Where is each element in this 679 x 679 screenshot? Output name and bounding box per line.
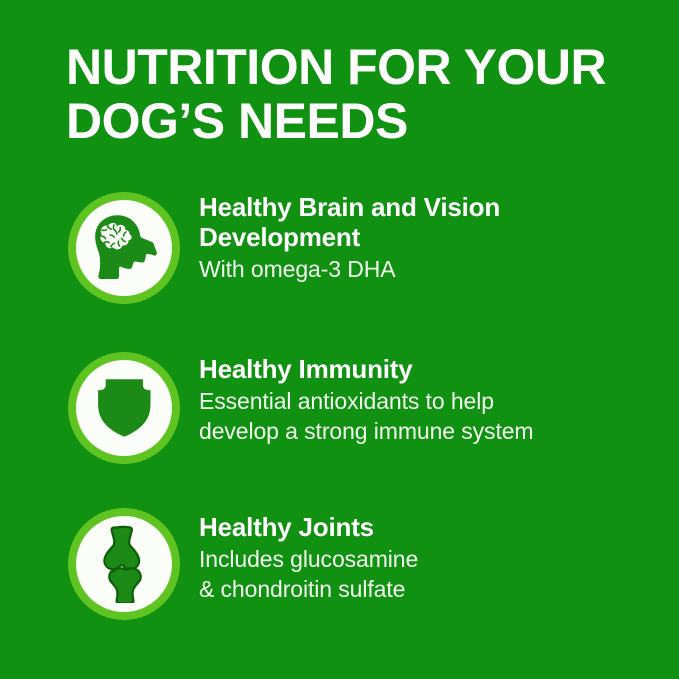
feature-text-brain-vision: Healthy Brain and Vision Development Wit… [199,192,647,284]
page-title: NUTRITION FOR YOUR DOG’S NEEDS [66,40,626,148]
icon-badge-brain-vision [68,192,180,304]
shield-icon [93,371,155,445]
feature-title: Healthy Brain and Vision Development [199,192,647,252]
nutrition-infographic: NUTRITION FOR YOUR DOG’S NEEDS [0,0,679,679]
icon-disc [76,360,172,456]
feature-title: Healthy Immunity [199,354,647,384]
feature-subtitle: Essential antioxidants to help develop a… [199,386,647,446]
dog-brain-icon [87,213,161,283]
feature-text-immunity: Healthy Immunity Essential antioxidants … [199,354,647,446]
feature-item-brain-vision: Healthy Brain and Vision Development Wit… [0,180,679,340]
icon-disc [76,516,172,612]
feature-item-immunity: Healthy Immunity Essential antioxidants … [0,340,679,498]
bone-joint-icon [95,525,153,603]
feature-title: Healthy Joints [199,512,647,542]
feature-subtitle: With omega-3 DHA [199,254,647,284]
feature-list: Healthy Brain and Vision Development Wit… [0,180,679,657]
icon-disc [76,200,172,296]
feature-subtitle: Includes glucosamine & chondroitin sulfa… [199,544,647,604]
icon-badge-joints [68,508,180,620]
icon-badge-immunity [68,352,180,464]
feature-item-joints: Healthy Joints Includes glucosamine & ch… [0,498,679,657]
feature-text-joints: Healthy Joints Includes glucosamine & ch… [199,512,647,604]
